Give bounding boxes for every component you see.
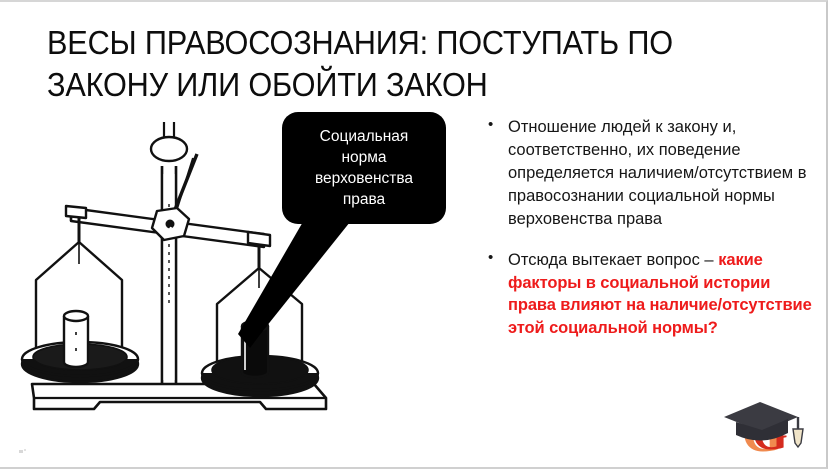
- bullet-item-2: Отсюда вытекает вопрос – какие факторы в…: [486, 249, 816, 341]
- bullet-2-lead-text: Отсюда вытекает вопрос –: [508, 251, 718, 269]
- bullet-1-text: Отношение людей к закону и, соответствен…: [508, 118, 806, 228]
- graduation-cap-g-logo: G G: [718, 395, 808, 457]
- bullet-item-1: Отношение людей к закону и, соответствен…: [486, 116, 816, 231]
- callout-text: Социальная норма верховенства права: [315, 126, 413, 210]
- scale-finial: [151, 122, 187, 161]
- corner-artifact: [17, 448, 27, 455]
- left-weight-white-cylinder: [64, 311, 88, 367]
- scale-column: [162, 166, 176, 384]
- bullet-list: Отношение людей к закону и, соответствен…: [486, 116, 816, 358]
- right-weight-black-cylinder: [242, 321, 268, 377]
- page-title: ВЕСЫ ПРАВОСОЗНАНИЯ: ПОСТУПАТЬ ПО ЗАКОНУ …: [47, 22, 717, 106]
- callout-box: Социальная норма верховенства права: [282, 112, 446, 224]
- graduation-cap-icon: [724, 402, 803, 447]
- slide-canvas: ВЕСЫ ПРАВОСОЗНАНИЯ: ПОСТУПАТЬ ПО ЗАКОНУ …: [0, 0, 828, 469]
- scale-pivot: [152, 208, 189, 240]
